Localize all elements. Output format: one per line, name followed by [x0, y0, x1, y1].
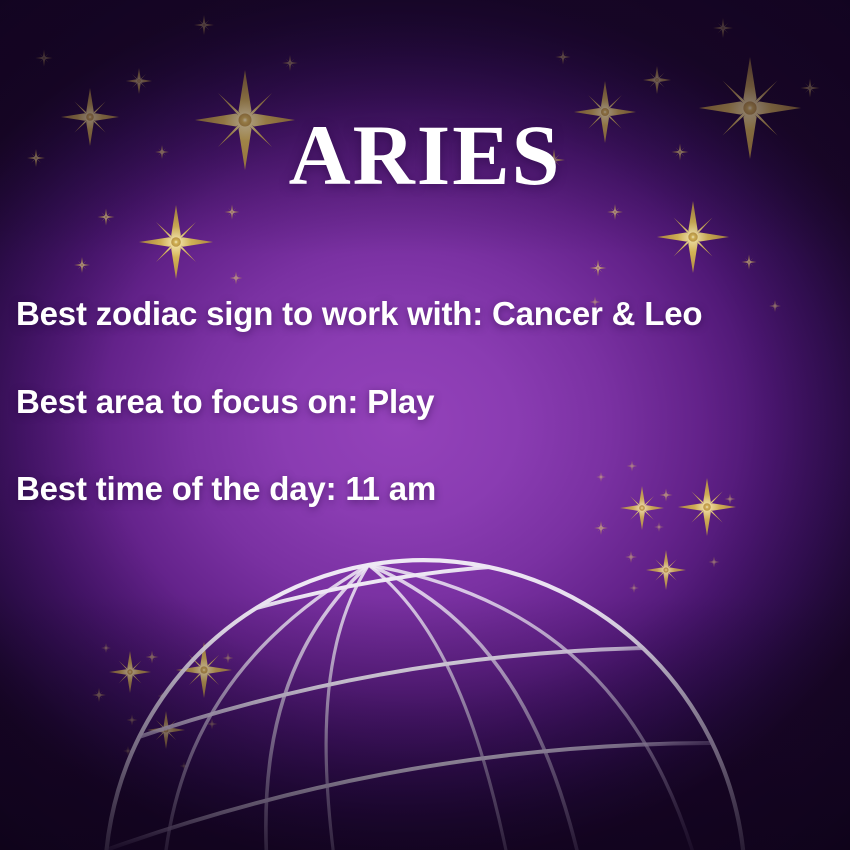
page-title: ARIES — [0, 112, 850, 198]
detail-line-best-time: Best time of the day: 11 am — [16, 471, 840, 507]
horoscope-detail-list: Best zodiac sign to work with: Cancer & … — [16, 296, 840, 507]
aries-horoscope-poster: ARIES Best zodiac sign to work with: Can… — [0, 0, 850, 850]
detail-line-focus-area: Best area to focus on: Play — [16, 384, 840, 420]
detail-line-zodiac-partner: Best zodiac sign to work with: Cancer & … — [16, 296, 840, 332]
